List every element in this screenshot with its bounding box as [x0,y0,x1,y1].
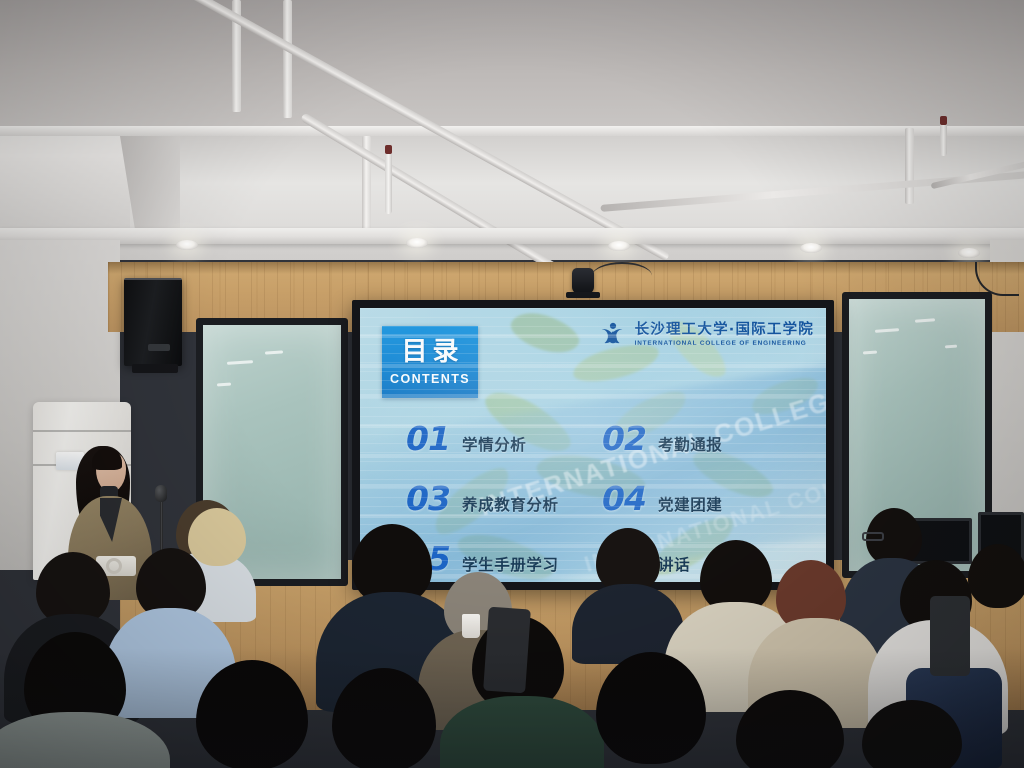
audience-head [188,508,246,566]
classroom-scene: INTERNATIONAL COLLEGE INTERNATIONAL COLL… [0,0,1024,768]
audience-body [0,712,170,768]
chair-back [930,596,970,676]
audience-head [196,660,308,768]
audience [0,0,1024,768]
audience-head [968,544,1024,608]
cup [462,614,480,638]
glasses-icon [862,532,884,541]
chair-back [483,607,531,694]
